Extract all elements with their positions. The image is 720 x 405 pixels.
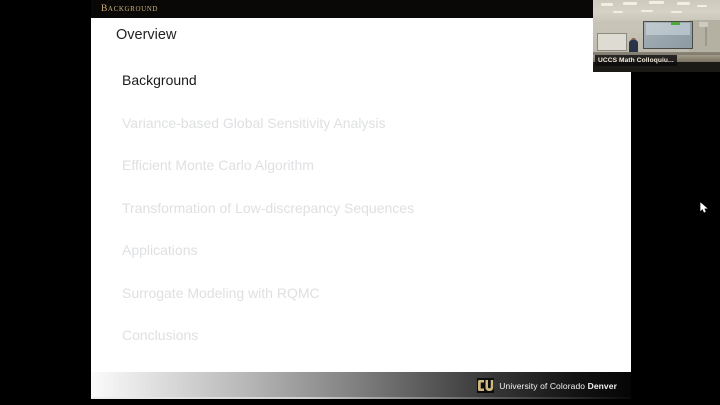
table-of-contents: Background Variance-based Global Sensiti…: [122, 73, 592, 371]
frame-title: Overview: [116, 27, 176, 43]
webcam-participant-label: UCCS Math Colloquiu...: [595, 55, 677, 66]
toc-item-conclusions[interactable]: Conclusions: [122, 328, 592, 342]
projection-screen-content: [646, 23, 690, 35]
toc-item-transformation-of-low-discrepancy-sequences[interactable]: Transformation of Low-discrepancy Sequen…: [122, 201, 592, 215]
mouse-cursor: [700, 200, 709, 211]
slide-body: Overview Background Variance-based Globa…: [91, 18, 631, 372]
slide-section-title: Background: [91, 4, 158, 14]
university-brand: University of Colorado Denver: [477, 378, 631, 393]
screen-capture: Background Overview Background Variance-…: [0, 0, 720, 405]
brand-suffix: Denver: [588, 381, 617, 391]
university-name: University of Colorado Denver: [499, 381, 617, 391]
presentation-slide[interactable]: Background Overview Background Variance-…: [91, 0, 631, 399]
toc-item-applications[interactable]: Applications: [122, 243, 592, 257]
whiteboard: [597, 33, 627, 51]
webcam-video-panel[interactable]: UCCS Math Colloquiu...: [593, 0, 720, 72]
slide-footer-bar: University of Colorado Denver: [91, 372, 631, 399]
projector: [699, 22, 708, 27]
toc-item-surrogate-modeling-with-rqmc[interactable]: Surrogate Modeling with RQMC: [122, 286, 592, 300]
projection-screen-highlight: [671, 22, 680, 25]
brand-prefix: University of Colorado: [499, 381, 587, 391]
slide-header-bar: Background: [91, 0, 631, 18]
toc-item-efficient-monte-carlo-algorithm[interactable]: Efficient Monte Carlo Algorithm: [122, 158, 592, 172]
cu-logo-icon: [477, 378, 494, 393]
toc-item-variance-based-global-sensitivity-analysis[interactable]: Variance-based Global Sensitivity Analys…: [122, 116, 592, 130]
projector-mount: [705, 24, 707, 46]
toc-item-background[interactable]: Background: [122, 73, 592, 87]
slide-bottom-edge: [91, 397, 631, 399]
